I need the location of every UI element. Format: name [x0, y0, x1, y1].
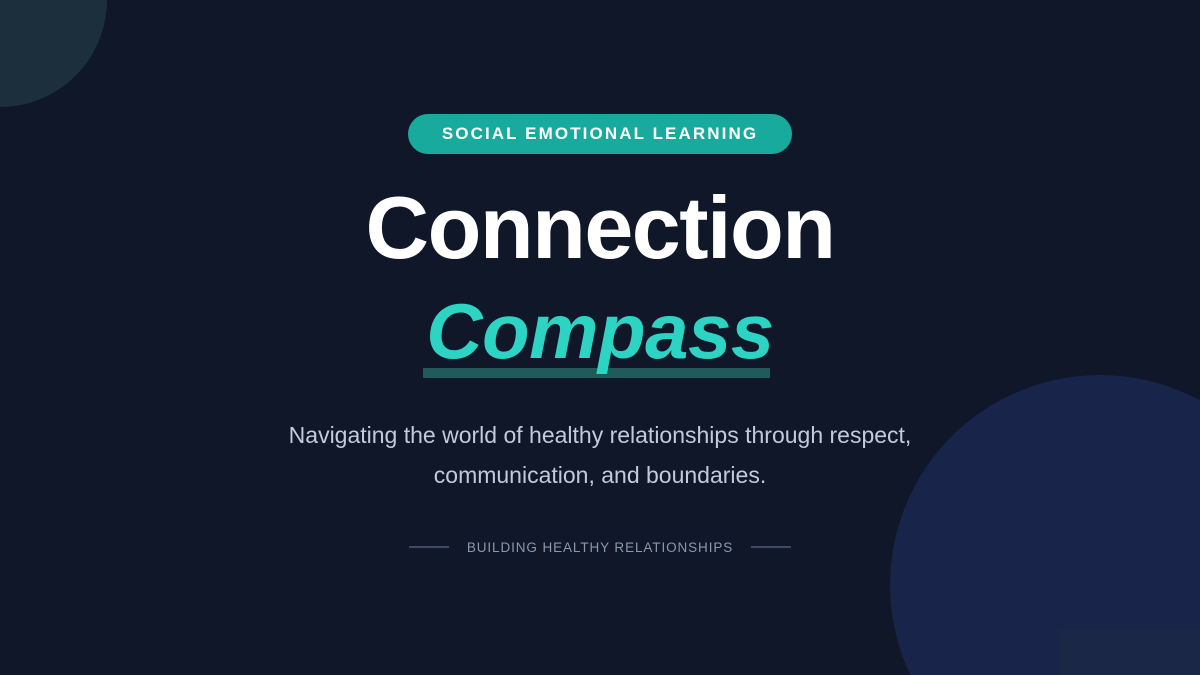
slide-content: SOCIAL EMOTIONAL LEARNING Connection Com… — [0, 0, 1200, 675]
footer-tagline: BUILDING HEALTHY RELATIONSHIPS — [409, 540, 791, 555]
title-main: Connection — [366, 184, 835, 272]
subtitle-line-2: communication, and boundaries. — [289, 455, 912, 495]
title-accent: Compass — [422, 292, 778, 370]
tagline-rule-right-icon — [751, 546, 791, 548]
tagline-rule-left-icon — [409, 546, 449, 548]
subtitle-line-1: Navigating the world of healthy relation… — [289, 415, 912, 455]
presentation-slide: SOCIAL EMOTIONAL LEARNING Connection Com… — [0, 0, 1200, 675]
category-badge: SOCIAL EMOTIONAL LEARNING — [408, 114, 792, 154]
subtitle: Navigating the world of healthy relation… — [289, 415, 912, 496]
title-accent-group: Compass — [422, 292, 778, 370]
tagline-text: BUILDING HEALTHY RELATIONSHIPS — [467, 540, 733, 555]
